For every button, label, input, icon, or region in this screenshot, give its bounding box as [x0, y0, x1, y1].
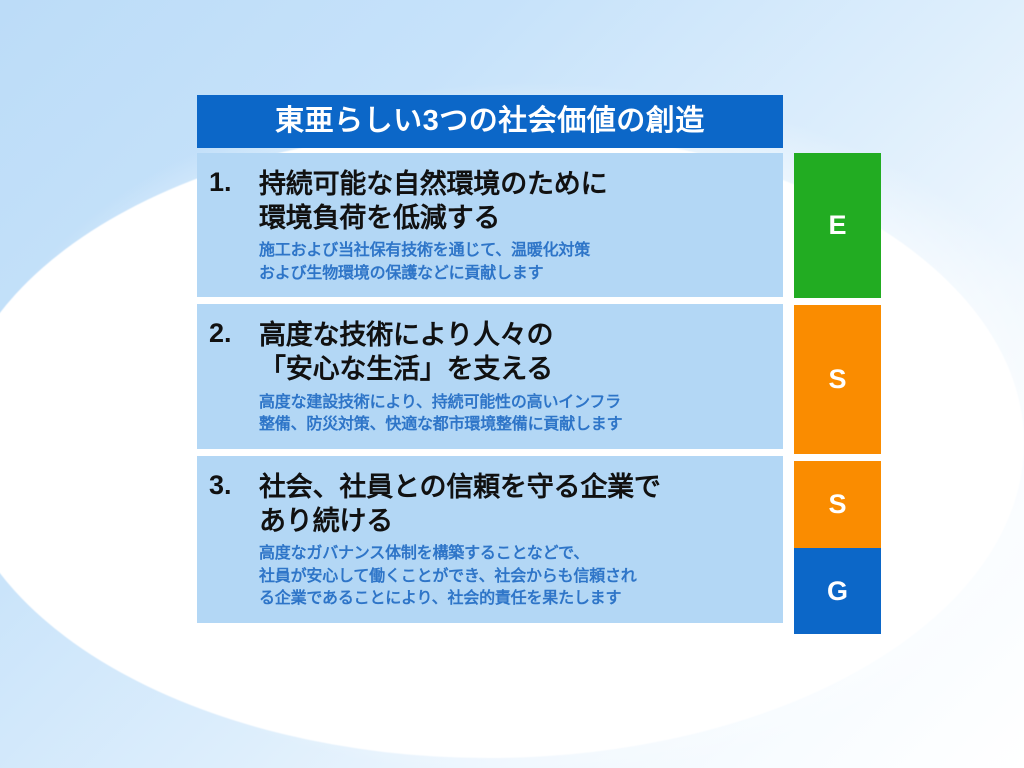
esg-badge-social-2: S	[794, 461, 881, 548]
row-subtext-line: 高度な建設技術により、持続可能性の高いインフラ	[259, 392, 775, 415]
row-subtext-line: 社員が安心して働くことができ、社会からも信頼され	[259, 566, 775, 589]
row-subtext-line: および生物環境の保護などに貢献します	[259, 263, 775, 286]
table-rows: 1. 持続可能な自然環境のために 環境負荷を低減する 施工および当社保有技術を通…	[197, 153, 871, 623]
row-subtext-line: 施工および当社保有技術を通じて、温暖化対策	[259, 240, 775, 263]
row-title-line: 「安心な生活」を支える	[259, 352, 775, 386]
row-title-line: 高度な技術により人々の	[259, 318, 775, 352]
row-number: 3.	[197, 456, 259, 623]
row-number: 1.	[197, 153, 259, 297]
row-subtext: 施工および当社保有技術を通じて、温暖化対策 および生物環境の保護などに貢献します	[259, 240, 775, 285]
table-header-title: 東亜らしい3つの社会価値の創造	[197, 95, 783, 148]
row-content: 高度な技術により人々の 「安心な生活」を支える 高度な建設技術により、持続可能性…	[259, 304, 783, 448]
row-subtext-line: 高度なガバナンス体制を構築することなどで、	[259, 543, 775, 566]
row-subtext-line: る企業であることにより、社会的責任を果たします	[259, 588, 775, 611]
row-number: 2.	[197, 304, 259, 448]
table-row: 2. 高度な技術により人々の 「安心な生活」を支える 高度な建設技術により、持続…	[197, 304, 783, 448]
row-content: 持続可能な自然環境のために 環境負荷を低減する 施工および当社保有技術を通じて、…	[259, 153, 783, 297]
row-title-line: 持続可能な自然環境のために	[259, 167, 775, 201]
row-title-line: あり続ける	[259, 504, 775, 538]
table-row: 3. 社会、社員との信頼を守る企業で あり続ける 高度なガバナンス体制を構築する…	[197, 456, 783, 623]
row-title-line: 環境負荷を低減する	[259, 201, 775, 235]
row-title: 高度な技術により人々の 「安心な生活」を支える	[259, 318, 775, 386]
row-title-line: 社会、社員との信頼を守る企業で	[259, 470, 775, 504]
row-title: 社会、社員との信頼を守る企業で あり続ける	[259, 470, 775, 538]
esg-badge-environment: E	[794, 153, 881, 298]
esg-badge-governance: G	[794, 548, 881, 634]
row-subtext-line: 整備、防災対策、快適な都市環境整備に貢献します	[259, 414, 775, 437]
row-title: 持続可能な自然環境のために 環境負荷を低減する	[259, 167, 775, 235]
esg-badge-social-1: S	[794, 305, 881, 454]
esg-badge-column: E S S G	[794, 153, 881, 634]
table-row: 1. 持続可能な自然環境のために 環境負荷を低減する 施工および当社保有技術を通…	[197, 153, 783, 297]
social-value-table: 東亜らしい3つの社会価値の創造 1. 持続可能な自然環境のために 環境負荷を低減…	[197, 95, 871, 623]
row-subtext: 高度な建設技術により、持続可能性の高いインフラ 整備、防災対策、快適な都市環境整…	[259, 392, 775, 437]
row-subtext: 高度なガバナンス体制を構築することなどで、 社員が安心して働くことができ、社会か…	[259, 543, 775, 611]
row-content: 社会、社員との信頼を守る企業で あり続ける 高度なガバナンス体制を構築することな…	[259, 456, 783, 623]
